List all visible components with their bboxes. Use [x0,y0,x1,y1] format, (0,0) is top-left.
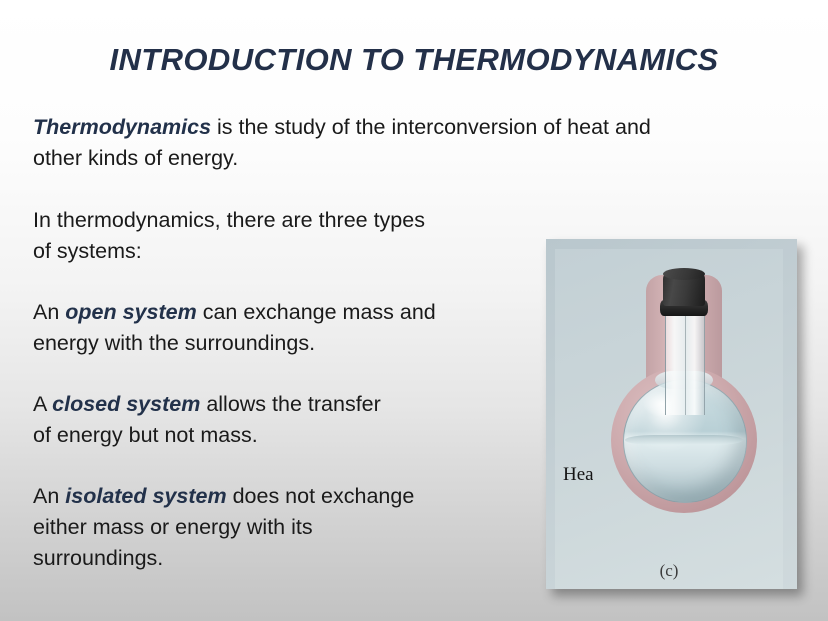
paragraph-spacer [33,174,799,205]
term-closed-system: closed system [52,392,200,416]
paragraph-open-lead: An [33,300,65,324]
paragraph-isolated-line2: either mass or energy with its [33,515,313,539]
insulated-flask-illustration [603,267,763,557]
paragraph-open-line2: energy with the surroundings. [33,331,315,355]
paragraph-closed-lead: A [33,392,52,416]
paragraph-isolated-lead: An [33,484,65,508]
paragraph-types: In thermodynamics, there are three types… [33,205,503,267]
heat-label: Hea [563,464,593,486]
paragraph-open-rest: can exchange mass and [197,300,436,324]
paragraph-definition: Thermodynamics is the study of the inter… [33,112,799,174]
figure-inner-panel: Hea (c) [555,249,783,589]
figure-caption: (c) [555,561,783,581]
paragraph-open-system: An open system can exchange mass andener… [33,297,503,359]
paragraph-closed-system: A closed system allows the transferof en… [33,389,503,451]
paragraph-closed-rest: allows the transfer [200,392,380,416]
slide-canvas: INTRODUCTION TO THERMODYNAMICS Thermodyn… [0,0,828,621]
paragraph-closed-line2: of energy but not mass. [33,423,258,447]
term-thermodynamics: Thermodynamics [33,115,211,139]
isolated-system-figure: Hea (c) [546,239,797,589]
paragraph-isolated-system: An isolated system does not exchangeeith… [33,481,503,574]
paragraph-types-line1: In thermodynamics, there are three types [33,208,425,232]
paragraph-definition-rest: is the study of the interconversion of h… [211,115,651,139]
term-open-system: open system [65,300,196,324]
page-title: INTRODUCTION TO THERMODYNAMICS [0,42,828,78]
term-isolated-system: isolated system [65,484,226,508]
flask-liquid-surface [625,435,743,445]
paragraph-isolated-line3: surroundings. [33,546,163,570]
paragraph-definition-line2: other kinds of energy. [33,143,799,174]
paragraph-isolated-rest: does not exchange [227,484,415,508]
paragraph-types-line2: of systems: [33,239,142,263]
stopper-top [663,268,705,280]
